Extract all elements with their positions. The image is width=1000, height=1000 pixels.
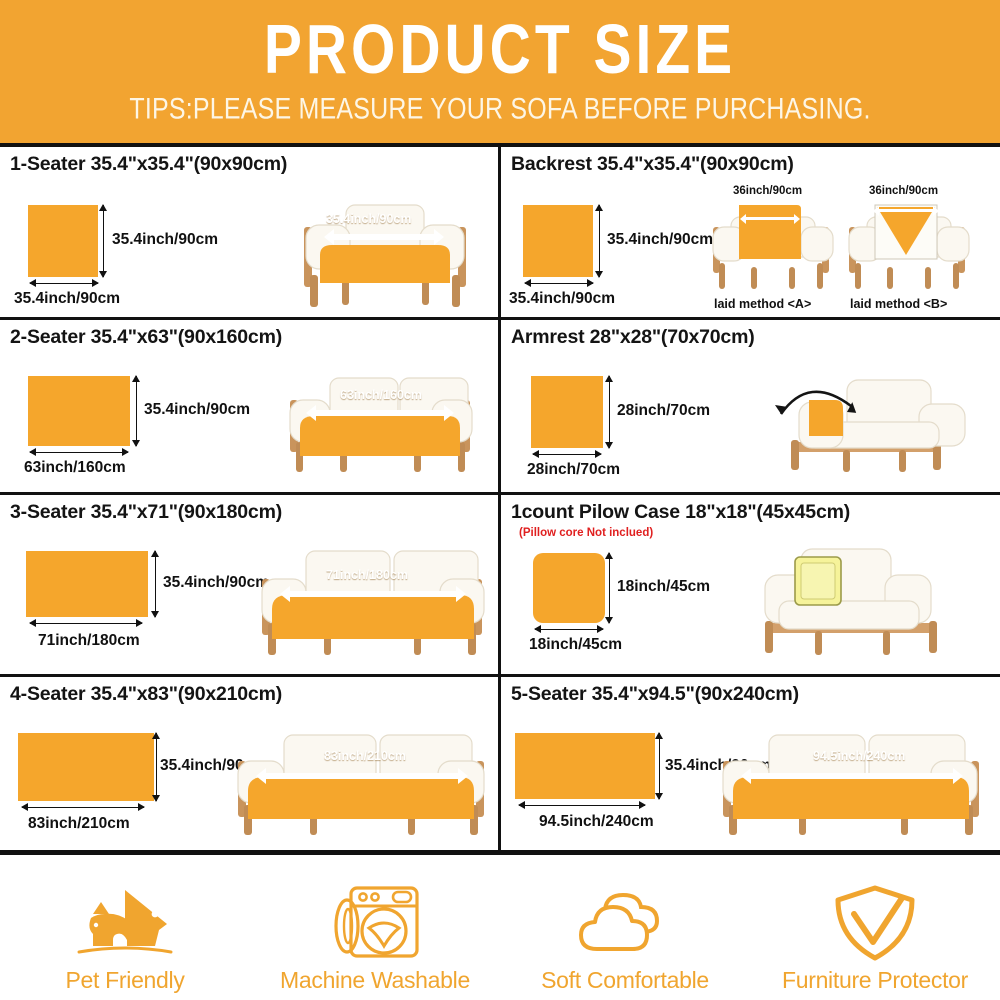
cell-title: 3-Seater 35.4"x71"(90x180cm)	[10, 501, 282, 524]
cell-three-seater: 3-Seater 35.4"x71"(90x180cm) 35.4inch/90…	[0, 495, 498, 674]
width-arrow	[22, 807, 144, 808]
height-arrow	[609, 376, 610, 448]
cloud-icon	[573, 884, 677, 962]
swatch-one-seater	[28, 205, 98, 277]
product-size-infographic: PRODUCT SIZE TIPS:PLEASE MEASURE YOUR SO…	[0, 0, 1000, 1000]
width-arrow	[519, 805, 645, 806]
cell-backrest: Backrest 35.4"x35.4"(90x90cm) 35.4inch/9…	[501, 147, 1000, 317]
cell-title: 1count Pilow Case 18"x18"(45x45cm)	[511, 501, 850, 524]
seat-dimension-label: 83inch/210cm	[324, 749, 406, 763]
method-a-dimension-label: 36inch/90cm	[733, 185, 802, 197]
seat-dimension-label: 71inch/180cm	[326, 568, 408, 582]
swatch-three-seater	[26, 551, 148, 617]
feature-label: Furniture Protector	[782, 967, 968, 994]
method-a-caption: laid method <A>	[714, 297, 811, 311]
method-b-dimension-label: 36inch/90cm	[869, 185, 938, 197]
cell-four-seater: 4-Seater 35.4"x83"(90x210cm) 35.4inch/90…	[0, 677, 498, 850]
method-a-dimension-arrow	[745, 217, 795, 220]
feature-pet-friendly: Pet Friendly	[10, 862, 240, 994]
width-arrow	[30, 283, 98, 284]
seat-dimension-label: 94.5inch/240cm	[813, 749, 905, 763]
cell-armrest: Armrest 28"x28"(70x70cm) 28inch/70cm 28i…	[501, 320, 1000, 492]
cell-title: Armrest 28"x28"(70x70cm)	[511, 326, 755, 349]
seat-dimension-arrow	[332, 234, 436, 240]
cell-one-seater: 1-Seater 35.4"x35.4"(90x90cm) 35.4inch/9…	[0, 147, 498, 317]
method-b-dimension-arrow	[878, 209, 934, 212]
width-label: 18inch/45cm	[529, 636, 622, 654]
height-arrow	[136, 376, 137, 446]
height-label: 35.4inch/90cm	[607, 231, 713, 249]
width-label: 35.4inch/90cm	[14, 290, 120, 308]
feature-label: Soft Comfortable	[541, 967, 709, 994]
cell-title: 2-Seater 35.4"x63"(90x160cm)	[10, 326, 282, 349]
width-label: 63inch/160cm	[24, 459, 126, 477]
width-label: 94.5inch/240cm	[539, 813, 654, 831]
sofa-illustration-laid-method-b: 36inch/90cm laid method <B>	[837, 197, 977, 295]
cell-five-seater: 5-Seater 35.4"x94.5"(90x240cm) 35.4inch/…	[501, 677, 1000, 850]
sofa-illustration-five-seater: 94.5inch/240cm	[713, 723, 993, 841]
swatch-pillow-case	[533, 553, 605, 623]
feature-soft-comfortable: Soft Comfortable	[510, 862, 740, 994]
sofa-illustration-one-seater: 35.4inch/90cm	[280, 197, 490, 312]
width-label: 71inch/180cm	[38, 632, 140, 650]
seat-dimension-arrow	[749, 773, 955, 779]
seat-dimension-arrow	[288, 591, 458, 597]
width-label: 83inch/210cm	[28, 815, 130, 833]
sofa-illustration-two-seater: 63inch/160cm	[272, 368, 487, 478]
width-arrow	[525, 283, 593, 284]
swatch-four-seater	[18, 733, 154, 801]
height-arrow	[103, 205, 104, 277]
height-arrow	[156, 733, 157, 801]
cell-pillow-case: 1count Pilow Case 18"x18"(45x45cm) (Pill…	[501, 495, 1000, 674]
sofa-illustration-three-seater: 71inch/180cm	[248, 541, 498, 661]
swatch-armrest	[531, 376, 603, 448]
feature-strip: Pet Friendly Machine Washable	[0, 855, 1000, 1000]
feature-label: Machine Washable	[280, 967, 470, 994]
seat-dimension-arrow	[314, 410, 446, 416]
cell-title: 1-Seater 35.4"x35.4"(90x90cm)	[10, 153, 287, 176]
width-arrow	[533, 454, 601, 455]
sofa-illustration-pillow-case	[753, 539, 963, 661]
swatch-five-seater	[515, 733, 655, 799]
cell-title: Backrest 35.4"x35.4"(90x90cm)	[511, 153, 794, 176]
cell-title: 4-Seater 35.4"x83"(90x210cm)	[10, 683, 282, 706]
seat-dimension-arrow	[264, 773, 460, 779]
header-subtitle: TIPS:PLEASE MEASURE YOUR SOFA BEFORE PUR…	[129, 94, 870, 124]
width-arrow	[30, 452, 128, 453]
height-label: 35.4inch/90cm	[144, 401, 250, 419]
pet-house-icon	[71, 884, 179, 962]
width-label: 28inch/70cm	[527, 461, 620, 479]
seat-dimension-label: 63inch/160cm	[340, 388, 422, 402]
washing-machine-icon	[327, 884, 423, 962]
size-grid: 1-Seater 35.4"x35.4"(90x90cm) 35.4inch/9…	[0, 147, 1000, 850]
height-arrow	[609, 553, 610, 623]
cell-title: 5-Seater 35.4"x94.5"(90x240cm)	[511, 683, 799, 706]
swatch-two-seater	[28, 376, 130, 446]
feature-furniture-protector: Furniture Protector	[760, 862, 990, 994]
seat-dimension-label: 35.4inch/90cm	[326, 212, 411, 226]
swatch-backrest	[523, 205, 593, 277]
shield-check-icon	[832, 884, 918, 962]
feature-machine-washable: Machine Washable	[260, 862, 490, 994]
page-title: PRODUCT SIZE	[264, 15, 736, 85]
cell-two-seater: 2-Seater 35.4"x63"(90x160cm) 35.4inch/90…	[0, 320, 498, 492]
sofa-illustration-four-seater: 83inch/210cm	[226, 723, 498, 841]
width-arrow	[30, 623, 142, 624]
feature-label: Pet Friendly	[65, 967, 184, 994]
width-label: 35.4inch/90cm	[509, 290, 615, 308]
sofa-illustration-armrest	[751, 366, 976, 478]
height-arrow	[155, 551, 156, 617]
sofa-illustration-laid-method-a: 36inch/90cm laid method <A>	[701, 197, 841, 295]
method-b-caption: laid method <B>	[850, 297, 947, 311]
width-arrow	[535, 629, 603, 630]
pillow-core-note: (Pillow core Not inclued)	[519, 527, 653, 539]
height-label: 28inch/70cm	[617, 402, 710, 420]
height-label: 35.4inch/90cm	[112, 231, 218, 249]
height-label: 18inch/45cm	[617, 578, 710, 596]
height-arrow	[659, 733, 660, 799]
header-banner: PRODUCT SIZE TIPS:PLEASE MEASURE YOUR SO…	[0, 0, 1000, 143]
height-arrow	[599, 205, 600, 277]
